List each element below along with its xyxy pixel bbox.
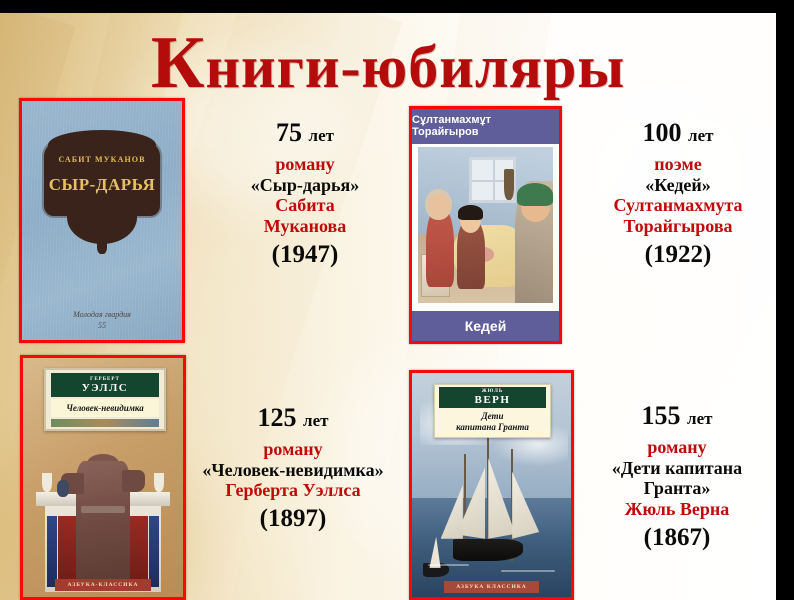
illustration-pilaster-right: [149, 516, 159, 588]
entry-date: (1867): [578, 524, 776, 553]
cover-label: ГЕРБЕРТ УЭЛЛС Человек-невидимка: [44, 368, 166, 432]
entry-years: 125 лет: [178, 403, 408, 433]
entry-genre: роману: [578, 437, 776, 458]
cover-imprint: АЗБУКА КЛАССИКА: [444, 581, 539, 592]
page-title-text: Книги-юбиляры: [151, 31, 625, 99]
book-cover-invisible-man: ГЕРБЕРТ УЭЛЛС Человек-невидимка: [20, 355, 186, 600]
cover-title-line-2: капитана Гранта: [456, 422, 529, 433]
cover-imprint: Молодая гвардия: [22, 310, 182, 319]
cover-label-artstrip: [51, 419, 160, 428]
illustration-figure-man-hat: [517, 183, 554, 206]
page-title: Книги-юбиляры: [0, 31, 776, 99]
entry-text-invisible-man: 125 лет роману «Человек-невидимка» Гербе…: [178, 403, 408, 534]
cover-author-last: УЭЛЛС: [82, 382, 129, 394]
cover-art-invisible-man: ГЕРБЕРТ УЭЛЛС Человек-невидимка: [23, 358, 183, 597]
book-cover-kedey: Сұлтанмахмұт Торайғыров: [409, 106, 562, 344]
entry-years-number: 75: [276, 118, 302, 147]
illustration-pilaster-left: [47, 516, 57, 588]
entry-work: «Сыр-дарья»: [205, 175, 405, 196]
entry-work: «Кедей»: [580, 175, 776, 196]
illustration-glove: [57, 480, 70, 497]
entry-work: «Человек-невидимка»: [178, 460, 408, 481]
entry-author-1: Сабита: [205, 195, 405, 216]
entry-years: 100 лет: [580, 118, 776, 148]
entry-author-2: Муканова: [205, 216, 405, 237]
slide-canvas: Книги-юбиляры САБИТ МУКАНОВ СЫР-ДАРЬЯ Мо…: [0, 13, 776, 600]
cover-title-line-1: Дети: [456, 411, 529, 422]
entry-genre: роману: [205, 154, 405, 175]
cover-imprint-year: 55: [22, 321, 182, 330]
entry-date: (1947): [205, 241, 405, 270]
entry-years-number: 125: [258, 403, 297, 432]
illustration-lamp: [504, 169, 513, 200]
cover-author-last: ВЕРН: [474, 394, 510, 406]
cover-title-panel: Дети капитана Гранта: [439, 409, 547, 435]
entry-work-2: Гранта»: [578, 478, 776, 499]
cover-imprint: АЗБУКА-КЛАССИКА: [55, 579, 151, 591]
entry-text-kedey: 100 лет поэме «Кедей» Султанмахмута Тора…: [580, 118, 776, 269]
illustration-robe-belt: [81, 506, 126, 513]
entry-author-1: Султанмахмута: [580, 195, 776, 216]
entry-years-number: 155: [642, 401, 681, 430]
cover-title: СЫР-ДАРЬЯ: [22, 175, 182, 195]
cover-author-band: ГЕРБЕРТ УЭЛЛС: [51, 373, 160, 397]
illustration-wave: [428, 564, 469, 566]
entry-author-1: Герберта Уэллса: [178, 480, 408, 501]
entry-work-1: «Дети капитана: [578, 458, 776, 479]
entry-years-unit: лет: [309, 126, 334, 145]
entry-years-unit: лет: [303, 411, 328, 430]
cover-art-kedey: Сұлтанмахмұт Торайғыров: [412, 109, 559, 341]
cover-title: Кедей: [465, 318, 507, 334]
entry-date: (1922): [580, 241, 776, 270]
ornament-stem: [97, 237, 107, 254]
entry-genre: поэме: [580, 154, 776, 175]
illustration-hull: [453, 539, 523, 561]
entry-author-1: Жюль Верна: [578, 499, 776, 520]
entry-years: 155 лет: [578, 401, 776, 431]
entry-author-2: Торайгырова: [580, 216, 776, 237]
entry-text-captain-grant: 155 лет роману «Дети капитана Гранта» Жю…: [578, 401, 776, 552]
book-cover-syr-darya: САБИТ МУКАНОВ СЫР-ДАРЬЯ Молодая гвардия …: [19, 98, 185, 343]
cover-author: САБИТ МУКАНОВ: [22, 155, 182, 164]
letterbox-top: [0, 0, 794, 13]
cover-author: Сұлтанмахмұт Торайғыров: [412, 114, 559, 138]
entry-years: 75 лет: [205, 118, 405, 148]
entry-years-number: 100: [643, 118, 682, 147]
illustration-robe-arm-right: [122, 470, 144, 492]
letterbox-right: [776, 0, 794, 600]
entry-date: (1897): [178, 505, 408, 534]
cover-title-panel: Человек-невидимка: [51, 399, 160, 417]
entry-years-unit: лет: [687, 409, 712, 428]
slide-root: Книги-юбиляры САБИТ МУКАНОВ СЫР-ДАРЬЯ Мо…: [0, 0, 794, 600]
cover-illustration: [418, 147, 553, 302]
entry-genre: роману: [178, 439, 408, 460]
cover-art-syr-darya: САБИТ МУКАНОВ СЫР-ДАРЬЯ Молодая гвардия …: [22, 101, 182, 340]
illustration-vase-right: [154, 473, 164, 492]
cover-label: ЖЮЛЬ ВЕРН Дети капитана Гранта: [434, 384, 550, 438]
illustration-figure-boy-hair: [458, 205, 482, 221]
cover-art-captain-grant: ЖЮЛЬ ВЕРН Дети капитана Гранта АЗБУКА КЛ…: [412, 373, 571, 597]
illustration-vase-left: [42, 473, 52, 492]
entry-years-unit: лет: [688, 126, 713, 145]
entry-text-syr-darya: 75 лет роману «Сыр-дарья» Сабита Муканов…: [205, 118, 405, 269]
book-cover-captain-grant: ЖЮЛЬ ВЕРН Дети капитана Гранта АЗБУКА КЛ…: [409, 370, 574, 600]
cover-author-band: Сұлтанмахмұт Торайғыров: [412, 109, 559, 144]
cover-title-band: Кедей: [412, 311, 559, 341]
cover-author-band: ЖЮЛЬ ВЕРН: [439, 387, 547, 408]
illustration-figure-woman-head: [429, 194, 449, 219]
cover-title: Человек-невидимка: [66, 403, 144, 413]
